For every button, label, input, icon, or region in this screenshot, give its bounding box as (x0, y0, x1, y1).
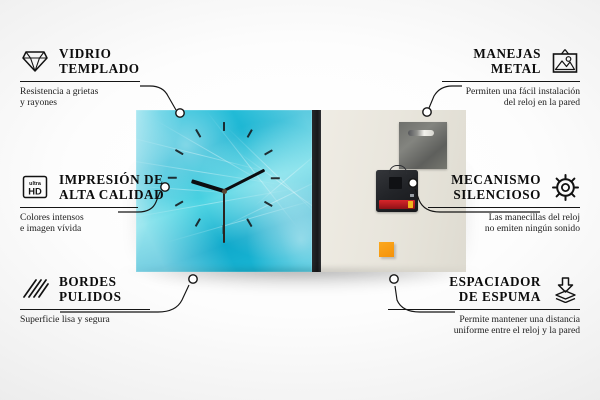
feature-description: Superficie lisa y segura (20, 314, 248, 326)
feature-metal-handles: MANEJAS METAL Permiten una fácil instala… (352, 44, 580, 109)
feature-rule (20, 81, 140, 82)
feature-rule (388, 309, 580, 310)
feature-header: ESPACIADOR DE ESPUMA (352, 272, 580, 306)
feature-title: VIDRIO TEMPLADO (59, 46, 140, 76)
feature-description: Permite mantener una distancia uniforme … (352, 314, 580, 337)
feature-title: MANEJAS METAL (473, 46, 541, 76)
clock-side-edge (312, 110, 321, 272)
feature-title: IMPRESIÓN DE ALTA CALIDAD (59, 172, 164, 202)
feature-polished-edges: BORDES PULIDOS Superficie lisa y segura (20, 272, 248, 325)
infographic-canvas: VIDRIO TEMPLADO Resistencia a grietas y … (0, 0, 600, 400)
feature-rule (20, 309, 150, 310)
feature-title: BORDES PULIDOS (59, 274, 121, 304)
feature-foam-spacer: ESPACIADOR DE ESPUMA Permite mantener un… (352, 272, 580, 337)
clock-tick (271, 177, 280, 179)
feature-silent-mechanism: MECANISMO SILENCIOSO Las manecillas del … (352, 170, 580, 235)
svg-text:HD: HD (28, 186, 42, 197)
picture-frame-icon (550, 46, 580, 76)
hanger-slot (408, 130, 434, 136)
polished-edges-icon (20, 274, 50, 304)
feature-header: ultra HD IMPRESIÓN DE ALTA CALIDAD (20, 170, 248, 204)
feature-header: MECANISMO SILENCIOSO (352, 170, 580, 204)
diamond-icon (20, 46, 50, 76)
feature-rule (20, 207, 138, 208)
feature-header: MANEJAS METAL (352, 44, 580, 78)
feature-header: BORDES PULIDOS (20, 272, 248, 306)
clock-tick (223, 122, 225, 131)
feature-description: Las manecillas del reloj no emiten ningú… (352, 212, 580, 235)
foam-spacer-pad (379, 242, 394, 257)
feature-rule (428, 207, 580, 208)
gear-icon (550, 172, 580, 202)
feature-description: Colores intensos e imagen vívida (20, 212, 248, 235)
feature-description: Permiten una fácil instalación del reloj… (352, 86, 580, 109)
feature-title: MECANISMO SILENCIOSO (451, 172, 541, 202)
feature-description: Resistencia a grietas y rayones (20, 86, 248, 109)
feature-high-quality-print: ultra HD IMPRESIÓN DE ALTA CALIDAD Color… (20, 170, 248, 235)
metal-hanger-plate (399, 122, 447, 169)
feature-header: VIDRIO TEMPLADO (20, 44, 248, 78)
foam-spacer-icon (550, 274, 580, 304)
feature-tempered-glass: VIDRIO TEMPLADO Resistencia a grietas y … (20, 44, 248, 109)
feature-title: ESPACIADOR DE ESPUMA (449, 274, 541, 304)
feature-rule (442, 81, 580, 82)
ultra-hd-icon: ultra HD (20, 172, 50, 202)
